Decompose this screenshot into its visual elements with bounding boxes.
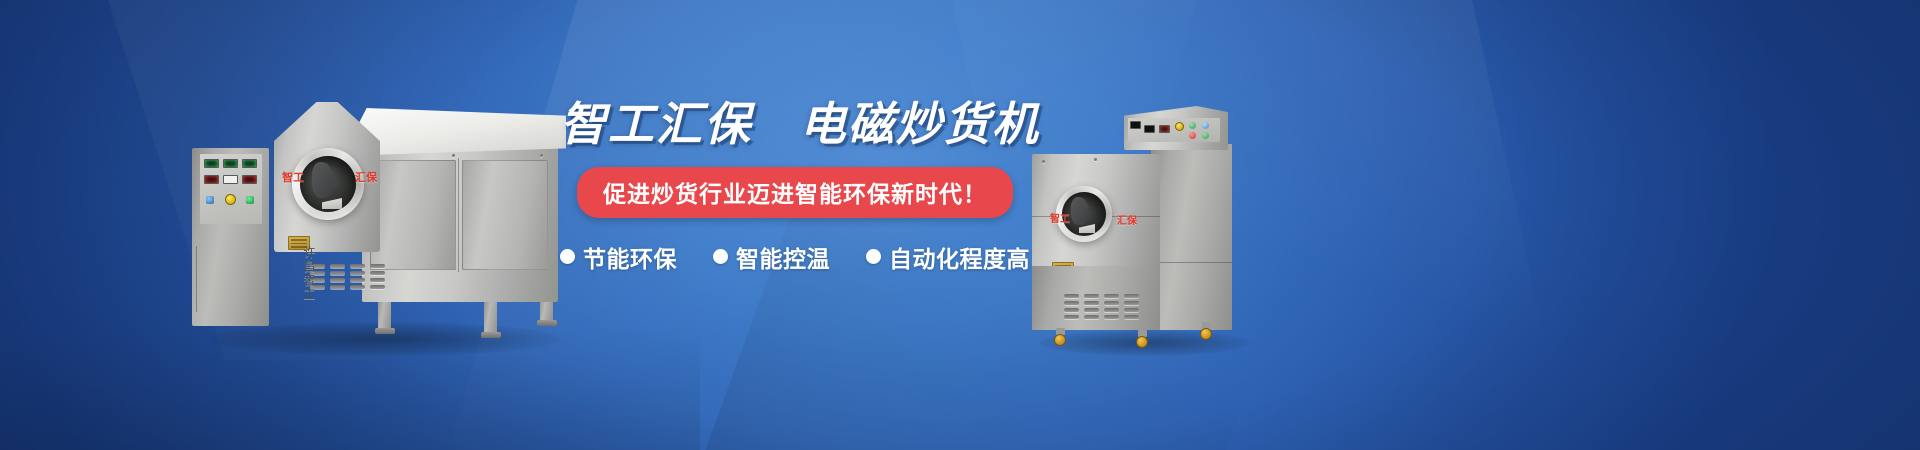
meter-display-2 xyxy=(223,159,238,168)
temp-display-1 xyxy=(204,175,219,184)
lamp-green-1[interactable] xyxy=(1189,122,1196,129)
lamp-green-2[interactable] xyxy=(1202,132,1209,139)
ribbon-wrapper: 促进炒货行业迈进智能环保新时代！ xyxy=(560,167,1030,218)
rivet xyxy=(452,154,455,157)
feature-label: 节能环保 xyxy=(583,240,677,274)
brand-text-right: 汇保 xyxy=(355,169,377,185)
bullet-dot-icon xyxy=(866,249,881,264)
temp-display-3 xyxy=(242,175,257,184)
feature-label: 自动化程度高 xyxy=(889,240,1030,274)
machine-left-large-roaster: 智工 汇保 许昌智工 xyxy=(192,96,562,344)
caster-wheel-mid xyxy=(1136,336,1148,348)
lamp-red-1[interactable] xyxy=(1189,132,1196,139)
foot-front-left xyxy=(375,328,395,334)
feature-item-smart-temperature: 智能控温 xyxy=(713,240,830,274)
foot-front-right xyxy=(481,332,501,338)
brand-text-left: 智工 xyxy=(1050,210,1070,225)
meter-display-3 xyxy=(242,159,257,168)
feature-item-automation: 自动化程度高 xyxy=(866,240,1030,274)
cabinet-door-right[interactable] xyxy=(462,160,548,270)
display-digital-2 xyxy=(1159,125,1170,133)
page-title: 智工汇保 电磁炒货机 xyxy=(560,100,1030,150)
machine-right-compact-roaster: 智工 汇保 xyxy=(1032,106,1232,348)
bullet-dot-icon xyxy=(560,249,575,264)
headline-product: 电磁炒货机 xyxy=(800,98,1040,150)
door-seam xyxy=(458,158,459,272)
feature-list: 节能环保 智能控温 自动化程度高 xyxy=(560,240,1030,274)
rivet xyxy=(1094,158,1097,161)
ventilation-grille xyxy=(1064,294,1150,319)
lamp-blue-1[interactable] xyxy=(1202,122,1209,129)
foot-rear-right xyxy=(537,320,557,326)
cabinet-seam xyxy=(196,246,197,312)
control-panel-face xyxy=(200,154,262,224)
rear-column xyxy=(1150,144,1232,330)
headline-brand: 智工汇保 xyxy=(560,98,752,150)
banner-copy-block: 智工汇保 电磁炒货机 促进炒货行业迈进智能环保新时代！ 节能环保 智能控温 自动… xyxy=(560,100,1030,274)
button-blue-left[interactable] xyxy=(206,196,214,204)
tagline-ribbon: 促进炒货行业迈进智能环保新时代！ xyxy=(577,167,1013,218)
leg-front-right xyxy=(484,298,497,334)
caster-wheel-right xyxy=(1200,328,1212,340)
display-digital-1 xyxy=(1144,125,1155,133)
display-meter xyxy=(1130,121,1141,129)
drum-chute xyxy=(1079,224,1095,233)
feature-label: 智能控温 xyxy=(736,240,830,274)
rivet xyxy=(1042,160,1045,163)
emergency-stop-knob[interactable] xyxy=(1175,122,1184,131)
emergency-stop-knob[interactable] xyxy=(225,194,236,205)
drum-paddle xyxy=(312,162,334,198)
brand-text-left: 智工 xyxy=(282,169,304,185)
bullet-dot-icon xyxy=(713,249,728,264)
side-brand-text: 许昌智工 xyxy=(300,246,315,302)
drum-chute xyxy=(322,198,342,209)
drum-opening[interactable] xyxy=(300,156,356,212)
rivet xyxy=(540,154,543,157)
temp-display-2 xyxy=(223,175,238,184)
column-seam-h xyxy=(1150,262,1232,263)
ventilation-grille xyxy=(310,264,392,289)
button-green-right[interactable] xyxy=(246,196,254,204)
cabinet-door-left[interactable] xyxy=(370,160,456,270)
feature-item-energy-saving: 节能环保 xyxy=(560,240,677,274)
meter-display-1 xyxy=(204,159,219,168)
brand-text-right: 汇保 xyxy=(1117,212,1137,227)
drum-paddle xyxy=(1071,197,1089,225)
product-hero-banner: 智工 汇保 许昌智工 智工汇保 xyxy=(0,0,1920,450)
control-panel-face xyxy=(1128,118,1220,142)
caster-wheel-left xyxy=(1054,334,1066,346)
